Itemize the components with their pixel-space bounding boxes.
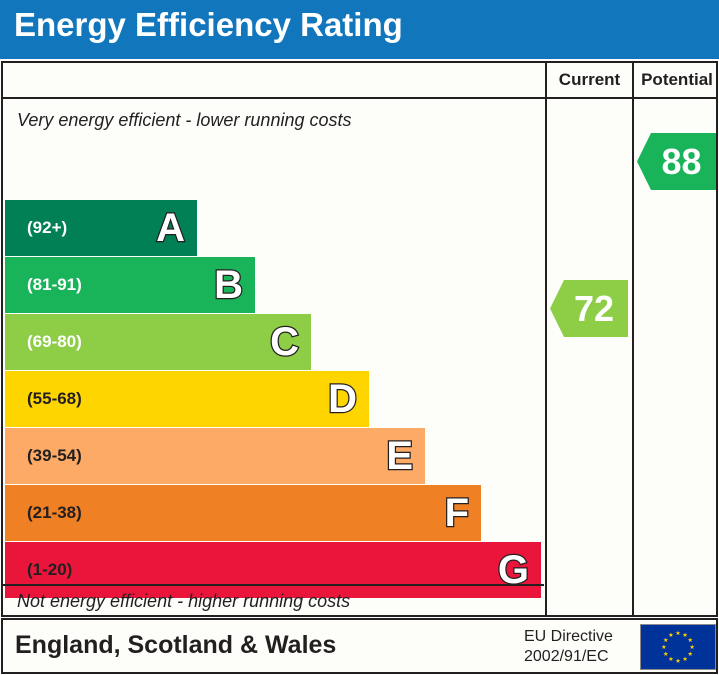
rating-value-potential: 88 bbox=[651, 144, 701, 180]
band-a: (92+)A bbox=[5, 200, 197, 256]
band-range-e: (39-54) bbox=[27, 446, 82, 466]
footer-directive-label: EU Directive 2002/91/EC bbox=[524, 627, 613, 668]
band-range-g: (1-20) bbox=[27, 560, 72, 580]
band-letter-b: B bbox=[214, 265, 243, 305]
column-header-potential: Potential bbox=[634, 70, 719, 90]
band-range-c: (69-80) bbox=[27, 332, 82, 352]
band-f: (21-38)F bbox=[5, 485, 481, 541]
footer-region-label: England, Scotland & Wales bbox=[15, 631, 336, 660]
title-bar: Energy Efficiency Rating bbox=[0, 0, 719, 59]
band-e: (39-54)E bbox=[5, 428, 425, 484]
directive-line-2: 2002/91/EC bbox=[524, 647, 613, 667]
band-range-a: (92+) bbox=[27, 218, 67, 238]
caption-efficient: Very energy efficient - lower running co… bbox=[17, 110, 352, 131]
band-range-f: (21-38) bbox=[27, 503, 82, 523]
column-header-current: Current bbox=[547, 70, 632, 90]
potential-column-divider bbox=[632, 63, 634, 617]
band-d: (55-68)D bbox=[5, 371, 369, 427]
band-g: (1-20)G bbox=[5, 542, 541, 598]
eu-flag-icon bbox=[640, 624, 716, 670]
directive-line-1: EU Directive bbox=[524, 627, 613, 647]
band-letter-e: E bbox=[386, 436, 413, 476]
rating-table: Current Potential Very energy efficient … bbox=[1, 61, 718, 617]
band-letter-d: D bbox=[328, 379, 357, 419]
rating-badge-current: 72 bbox=[550, 280, 628, 337]
page-title: Energy Efficiency Rating bbox=[14, 6, 403, 44]
band-letter-a: A bbox=[156, 208, 185, 248]
band-range-d: (55-68) bbox=[27, 389, 82, 409]
band-b: (81-91)B bbox=[5, 257, 255, 313]
energy-efficiency-rating-chart: Energy Efficiency Rating Current Potenti… bbox=[0, 0, 719, 675]
caption-bottom-rule bbox=[3, 584, 544, 586]
caption-inefficient: Not energy efficient - higher running co… bbox=[17, 591, 350, 612]
rating-badge-potential: 88 bbox=[637, 133, 716, 190]
band-letter-c: C bbox=[270, 322, 299, 362]
band-range-b: (81-91) bbox=[27, 275, 82, 295]
rating-value-current: 72 bbox=[564, 291, 614, 327]
current-column-divider bbox=[545, 63, 547, 617]
footer-bar: England, Scotland & Wales EU Directive 2… bbox=[1, 618, 718, 674]
band-c: (69-80)C bbox=[5, 314, 311, 370]
band-letter-f: F bbox=[445, 493, 469, 533]
